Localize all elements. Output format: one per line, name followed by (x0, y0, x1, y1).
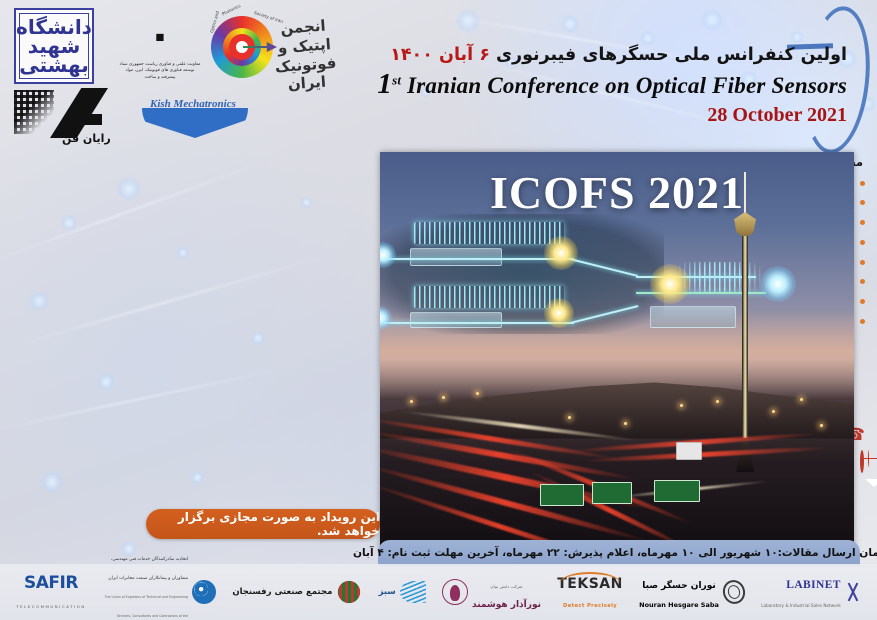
title-ordinal-number: 1 (377, 68, 392, 100)
sponsor-noorafzar-hooshmand: شرکت دانش بنیان نورآذار هوشمند (442, 570, 541, 614)
rayan-fan-logo: رایان فن (10, 88, 130, 144)
sponsor-union-telecom: اتحادیه صادرکنندگان خدمات فنی مهندسی، مش… (102, 570, 216, 614)
mojtame-mark-icon (336, 580, 362, 604)
icofs-acronym-title: ICOFS 2021 (380, 166, 854, 219)
conference-hero-image: ICOFS 2021 (380, 152, 854, 550)
sponsor-safir: SAFIR TELECOMMUNICATION (16, 570, 86, 614)
title-persian: اولین کنفرانس ملی حسگرهای فیبرنوری ۶ آبا… (347, 44, 847, 67)
tower-spire (744, 172, 746, 216)
vice-presidency-caption: معاونت علمی و فناوری ریاست جمهوری ستاد ت… (118, 62, 202, 81)
bullet-icon (860, 220, 865, 225)
shahid-beheshti-university-logo: دانشگاه شهید بهشتی (14, 8, 94, 84)
virtual-event-notice: این رویداد به صورت مجازی برگزار خواهد شد… (146, 509, 380, 539)
noorafzar-circle-icon (442, 579, 468, 605)
schedule-deadline-bar: زمان ارسال مقالات:۱۰ شهریور الی ۱۰ مهرما… (378, 540, 860, 566)
kish-mechatronics-logo: Kish Mechatronics (142, 96, 250, 140)
nouran-coil-icon (720, 577, 748, 607)
safir-sub: TELECOMMUNICATION (16, 604, 86, 609)
conference-poster: دانشگاه شهید بهشتی ۰ معاونت علمی و فناور… (0, 0, 877, 620)
sponsor-labinet: LABINET Laboratory & Industrial Sales Ne… (761, 570, 861, 614)
milad-tower-graphic (732, 172, 758, 472)
tower-pod (734, 212, 756, 238)
labinet-label: LABINET (786, 579, 841, 591)
rayan-pixel-icon (14, 90, 54, 134)
sponsor-sabz: سبز (379, 570, 426, 614)
sponsor-teksan: TEKSAN Detect Precisely (557, 570, 623, 614)
title-persian-text: اولین کنفرانس ملی حسگرهای فیبرنوری (496, 45, 847, 65)
union-label-fa: اتحادیه صادرکنندگان خدمات فنی مهندسی، مش… (108, 557, 188, 581)
optics-photonics-society-logo: Optics and Photonics Society of Iran (205, 6, 283, 84)
sbu-logo-text: دانشگاه شهید بهشتی (19, 13, 89, 79)
nouran-label-fa: نوران حسگر صبا (642, 581, 715, 591)
title-ordinal-suffix: st (392, 72, 401, 87)
labinet-mark-icon (845, 582, 861, 602)
bullet-icon (860, 240, 865, 245)
rayan-fan-label: رایان فن (62, 132, 111, 145)
header-logo-row: دانشگاه شهید بهشتی ۰ معاونت علمی و فناور… (0, 0, 400, 150)
bullet-icon (860, 299, 865, 304)
bullet-icon (860, 319, 865, 324)
bullet-icon (860, 200, 865, 205)
iran-emblem-icon: ۰ (118, 14, 202, 56)
title-english-text: Iranian Conference on Optical Fiber Sens… (407, 73, 847, 98)
sabz-fan-icon (400, 581, 426, 603)
labinet-sub: Laboratory & Industrial Sales Network (761, 603, 841, 608)
sponsor-nouran-hesgare-saba: نوران حسگر صبا Nouran Hesgare Saba (639, 570, 745, 614)
title-english: 1st Iranian Conference on Optical Fiber … (347, 68, 847, 101)
noorafzar-label: نورآذار هوشمند (472, 600, 541, 610)
bullet-icon (860, 181, 865, 186)
sabz-label: سبز (379, 587, 396, 597)
teksan-arc-icon (559, 572, 621, 584)
union-mark-icon (192, 580, 216, 604)
sponsor-strip: LABINET Laboratory & Industrial Sales Ne… (0, 564, 877, 620)
rayan-bar-icon (72, 114, 102, 125)
date-persian: ۶ آبان ۱۴۰۰ (390, 45, 490, 65)
noorafzar-sub: شرکت دانش بنیان (490, 584, 522, 589)
union-label-en: The Union of Exporters of Technical and … (105, 595, 189, 620)
rayan-slash-icon (50, 88, 108, 138)
kish-swoosh-icon (142, 108, 248, 138)
sponsor-mojtame-sanati-rafsanjan: مجتمع صنعتی رفسنجان (232, 570, 362, 614)
date-english: 28 October 2021 (347, 104, 847, 127)
bullet-icon (860, 279, 865, 284)
nouran-label-en: Nouran Hesgare Saba (639, 601, 719, 609)
vice-presidency-logo: ۰ معاونت علمی و فناوری ریاست جمهوری ستاد… (118, 14, 202, 81)
bullet-icon (860, 260, 865, 265)
safir-label: SAFIR (24, 573, 78, 593)
teksan-sub: Detect Precisely (563, 603, 617, 609)
opsi-persian-name: انجمن اپتیک و فوتونیک ایران (269, 16, 340, 95)
photonic-chip-graphic (380, 214, 664, 334)
tower-shaft (742, 236, 748, 448)
mojtame-label: مجتمع صنعتی رفسنجان (232, 587, 332, 597)
title-block: اولین کنفرانس ملی حسگرهای فیبرنوری ۶ آبا… (347, 44, 847, 127)
